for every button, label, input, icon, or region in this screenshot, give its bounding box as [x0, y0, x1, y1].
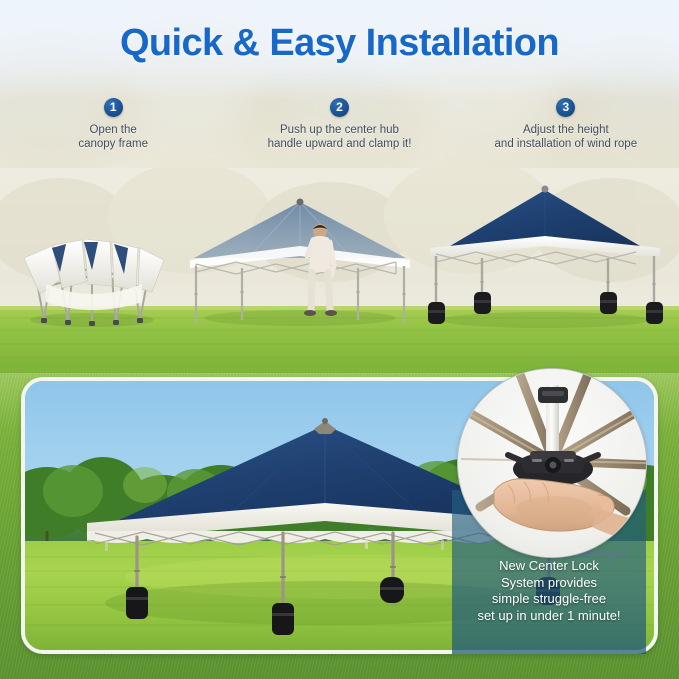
center-lock-inset-photo [457, 368, 647, 558]
step-2-label: Push up the center hub handle upward and… [268, 123, 412, 151]
center-lock-callout-text: New Center Lock System provides simple s… [477, 558, 620, 624]
steps-illustration-strip [0, 168, 679, 373]
step-3: 3 Adjust the height and installation of … [453, 98, 679, 164]
infographic-page: Quick & Easy Installation 1 Open the can… [0, 0, 679, 679]
steps-label-row: 1 Open the canopy frame 2 Push up the ce… [0, 98, 679, 164]
steps-illustration-svg [0, 168, 679, 373]
step-1-badge: 1 [104, 98, 123, 117]
step-3-label: Adjust the height and installation of wi… [495, 123, 638, 151]
step-2-badge: 2 [330, 98, 349, 117]
step-3-badge: 3 [556, 98, 575, 117]
step-1-label: Open the canopy frame [78, 123, 148, 151]
center-lock-inset-svg [458, 369, 647, 558]
page-title: Quick & Easy Installation [0, 22, 679, 65]
step-2: 2 Push up the center hub handle upward a… [226, 98, 452, 164]
step-1: 1 Open the canopy frame [0, 98, 226, 164]
